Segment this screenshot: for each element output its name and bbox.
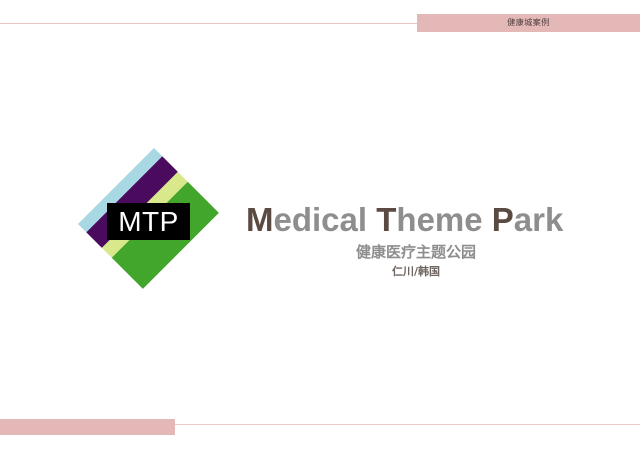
title-block: Medical Theme Park 健康医疗主题公园 仁川/韩国 [246, 198, 586, 280]
title-letter-t: T [376, 201, 396, 238]
page-title: Medical Theme Park [246, 198, 586, 242]
title-word-heme: heme [396, 201, 491, 238]
footer-accent-block [0, 419, 175, 435]
mtp-logo: MTP [78, 148, 230, 300]
header-divider-rule [0, 23, 418, 24]
subtitle-location: 仁川/韩国 [246, 263, 586, 280]
header-section-tag-label: 健康城案例 [507, 19, 550, 27]
title-word-ark: ark [514, 201, 564, 238]
title-letter-p: P [492, 201, 514, 238]
logo-monogram-text: MTP [118, 208, 179, 236]
slide-canvas: 健康城案例 [0, 0, 640, 453]
title-word-edical: edical [274, 201, 377, 238]
footer-divider-rule [175, 424, 640, 425]
subtitle-chinese: 健康医疗主题公园 [246, 242, 586, 263]
title-letter-m: M [246, 201, 274, 238]
logo-monogram-box: MTP [107, 203, 190, 240]
header-section-tag: 健康城案例 [417, 14, 640, 32]
